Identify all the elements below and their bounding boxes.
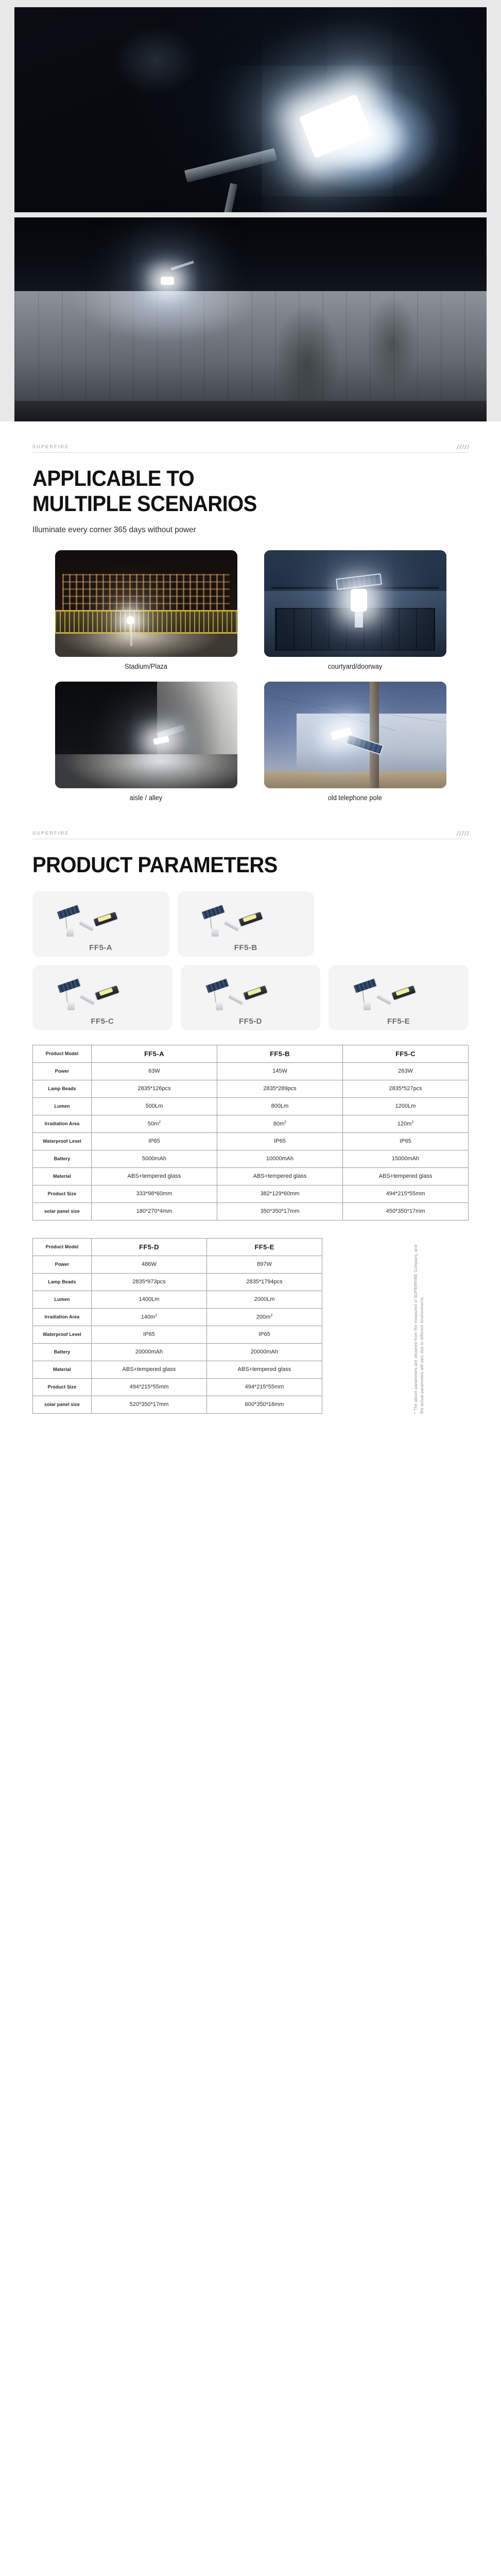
model-card-ff5-c[interactable]: FF5-C [32, 965, 172, 1030]
ground-graphic [14, 401, 487, 421]
row-label-power: Power [33, 1062, 92, 1080]
row-label-product-model: Product Model [33, 1238, 92, 1256]
night-sky-graphic [14, 217, 487, 295]
scenario-image-stadium [55, 550, 237, 657]
row-label-product-size: Product Size [33, 1185, 92, 1202]
table-row: Power 486W 897W [33, 1256, 322, 1273]
row-label-battery: Battery [33, 1343, 92, 1361]
row-label-material: Material [33, 1167, 92, 1185]
model-cards-section: FF5-A FF5-B [32, 891, 469, 1030]
cell-power-b: 145W [217, 1062, 343, 1080]
cell-product-size-c: 494*215*55mm [343, 1185, 469, 1202]
product-detail-page: SUPERFIRE APPLICABLE TO MULTIPLE SCENARI… [0, 0, 501, 1443]
table-row: Battery 5000mAh 10000mAh 15000mAh [33, 1150, 469, 1167]
table-row: Product Model FF5-A FF5-B FF5-C [33, 1045, 469, 1062]
scenario-caption: courtyard/doorway [328, 663, 383, 670]
cell-lamp-beads-c: 2835*527pcs [343, 1080, 469, 1097]
row-label-power: Power [33, 1256, 92, 1273]
spec-table-1: Product Model FF5-A FF5-B FF5-C Power 63… [32, 1045, 469, 1221]
spec-table-2: Product Model FF5-D FF5-E Power 486W 897… [32, 1238, 322, 1414]
row-label-irradiation-area: Irradiation Area [33, 1115, 92, 1132]
cell-battery-d: 20000mAh [92, 1343, 207, 1361]
cell-lumen-d: 1400Lm [92, 1291, 207, 1308]
table-row: Lumen 500Lm 800Lm 1200Lm [33, 1097, 469, 1115]
table-row: Material ABS+tempered glass ABS+tempered… [33, 1361, 322, 1378]
cell-battery-a: 5000mAh [92, 1150, 217, 1167]
scenario-caption: aisle / alley [130, 794, 162, 802]
cell-product-size-e: 494*215*55mm [207, 1378, 322, 1396]
scenario-grid: Stadium/Plaza courtyard/doorway [55, 550, 446, 809]
hero-photo-wall-light-night [14, 217, 487, 421]
cell-solar-size-d: 520*350*17mm [92, 1396, 207, 1413]
product-image-ff5-c [32, 972, 172, 1012]
scenario-image-courtyard [264, 550, 446, 657]
model-card-label: FF5-C [91, 1017, 114, 1026]
section-subtitle: Illuminate every corner 365 days without… [32, 526, 447, 535]
table-row: Product Size 333*98*60mm 382*129*60mm 49… [33, 1185, 469, 1202]
cell-irradiation-b: 80m2 [217, 1115, 343, 1132]
model-card-label: FF5-A [89, 943, 112, 952]
cell-battery-b: 10000mAh [217, 1150, 343, 1167]
table-row: Lamp Beads 2835*126pcs 2835*289pcs 2835*… [33, 1080, 469, 1097]
table-row: Irradiation Area 140m2 200m2 [33, 1308, 322, 1326]
spec-table-2-wrapper: Product Model FF5-D FF5-E Power 486W 897… [32, 1238, 469, 1414]
product-image-ff5-d [181, 972, 321, 1012]
cell-battery-e: 20000mAh [207, 1343, 322, 1361]
light-glare-graphic [161, 277, 174, 285]
model-card-ff5-b[interactable]: FF5-B [178, 891, 315, 957]
scenario-image-telephone-pole [264, 682, 446, 788]
row-label-waterproof-level: Waterproof Level [33, 1132, 92, 1150]
cell-model-b: FF5-B [217, 1045, 343, 1062]
table-row: Product Size 494*215*55mm 494*215*55mm [33, 1378, 322, 1396]
cell-waterproof-a: IP65 [92, 1132, 217, 1150]
hero-photo-flood-light-night [14, 7, 487, 212]
title-line-1: PRODUCT PARAMETERS [32, 853, 438, 878]
table-row: Waterproof Level IP65 IP65 IP65 [33, 1132, 469, 1150]
disclaimer-note: * The above parameters are obtained from… [413, 1238, 471, 1414]
table-row: Battery 20000mAh 20000mAh [33, 1343, 322, 1361]
table-row: Product Model FF5-D FF5-E [33, 1238, 322, 1256]
row-label-lumen: Lumen [33, 1291, 92, 1308]
scenario-item-stadium[interactable]: Stadium/Plaza [55, 550, 237, 677]
page-title-parameters: PRODUCT PARAMETERS [32, 853, 438, 878]
title-line-2: MULTIPLE SCENARIOS [32, 492, 438, 517]
table-row: Irradiation Area 50m2 80m2 120m2 [33, 1115, 469, 1132]
cell-lumen-a: 500Lm [92, 1097, 217, 1115]
product-image-ff5-e [329, 972, 469, 1012]
cell-irradiation-c: 120m2 [343, 1115, 469, 1132]
row-label-lumen: Lumen [33, 1097, 92, 1115]
model-card-label: FF5-D [239, 1017, 262, 1026]
table-row: Lamp Beads 2835*973pcs 2835*1794pcs [33, 1273, 322, 1291]
model-card-label: FF5-B [234, 943, 257, 952]
cell-power-c: 263W [343, 1062, 469, 1080]
cell-solar-size-b: 350*350*17mm [217, 1202, 343, 1220]
model-card-row-2: FF5-C FF5-D [32, 965, 469, 1030]
model-card-ff5-d[interactable]: FF5-D [181, 965, 321, 1030]
row-label-solar-panel-size: solar panel size [33, 1396, 92, 1413]
cell-model-a: FF5-A [92, 1045, 217, 1062]
product-image-ff5-b [178, 899, 315, 939]
cell-lamp-beads-b: 2835*289pcs [217, 1080, 343, 1097]
scenario-image-alley [55, 682, 237, 788]
cell-material-e: ABS+tempered glass [207, 1361, 322, 1378]
cell-battery-c: 15000mAh [343, 1150, 469, 1167]
page-title-scenarios: APPLICABLE TO MULTIPLE SCENARIOS [32, 466, 438, 516]
table-row: Material ABS+tempered glass ABS+tempered… [33, 1167, 469, 1185]
table-row: solar panel size 520*350*17mm 600*350*18… [33, 1396, 322, 1413]
cell-solar-size-a: 180*270*4mm [92, 1202, 217, 1220]
cell-power-d: 486W [92, 1256, 207, 1273]
slash-marks-icon [457, 831, 469, 836]
cell-irradiation-d: 140m2 [92, 1308, 207, 1326]
cell-irradiation-a: 50m2 [92, 1115, 217, 1132]
night-scene-background [14, 217, 487, 421]
table-row: solar panel size 180*270*4mm 350*350*17m… [33, 1202, 469, 1220]
brand-tag: SUPERFIRE [32, 444, 69, 449]
slash-marks-icon [457, 445, 469, 449]
section-header-parameters: SUPERFIRE [32, 809, 469, 839]
cell-waterproof-d: IP65 [92, 1326, 207, 1343]
cell-product-size-d: 494*215*55mm [92, 1378, 207, 1396]
row-label-battery: Battery [33, 1150, 92, 1167]
row-label-product-size: Product Size [33, 1378, 92, 1396]
model-card-label: FF5-E [387, 1017, 410, 1026]
row-label-irradiation-area: Irradiation Area [33, 1308, 92, 1326]
cell-solar-size-e: 600*350*18mm [207, 1396, 322, 1413]
scenario-caption: old telephone pole [328, 794, 382, 802]
hero-photo-band [0, 0, 501, 421]
cell-power-a: 63W [92, 1062, 217, 1080]
cell-material-d: ABS+tempered glass [92, 1361, 207, 1378]
model-card-ff5-e[interactable]: FF5-E [329, 965, 469, 1030]
row-label-material: Material [33, 1361, 92, 1378]
disclaimer-text: * The above parameters are obtained from… [413, 1238, 425, 1414]
section-header-scenarios: SUPERFIRE [32, 427, 469, 453]
row-label-product-model: Product Model [33, 1045, 92, 1062]
cell-material-c: ABS+tempered glass [343, 1167, 469, 1185]
night-scene-background [14, 7, 487, 212]
cell-waterproof-e: IP65 [207, 1326, 322, 1343]
row-label-solar-panel-size: solar panel size [33, 1202, 92, 1220]
scenario-item-telephone-pole[interactable]: old telephone pole [264, 682, 446, 809]
cell-lumen-b: 800Lm [217, 1097, 343, 1115]
row-label-waterproof-level: Waterproof Level [33, 1326, 92, 1343]
table-row: Power 63W 145W 263W [33, 1062, 469, 1080]
model-card-row-1: FF5-A FF5-B [32, 891, 469, 957]
scenario-item-courtyard[interactable]: courtyard/doorway [264, 550, 446, 677]
cell-material-b: ABS+tempered glass [217, 1167, 343, 1185]
cell-waterproof-b: IP65 [217, 1132, 343, 1150]
cell-lumen-c: 1200Lm [343, 1097, 469, 1115]
cell-solar-size-c: 450*350*17mm [343, 1202, 469, 1220]
cell-model-c: FF5-C [343, 1045, 469, 1062]
table-row: Waterproof Level IP65 IP65 [33, 1326, 322, 1343]
header-divider [32, 452, 469, 453]
cell-lamp-beads-a: 2835*126pcs [92, 1080, 217, 1097]
cell-product-size-b: 382*129*60mm [217, 1185, 343, 1202]
table-row: Lumen 1400Lm 2000Lm [33, 1291, 322, 1308]
cell-waterproof-c: IP65 [343, 1132, 469, 1150]
brand-tag: SUPERFIRE [32, 831, 69, 836]
cell-power-e: 897W [207, 1256, 322, 1273]
header-divider [32, 839, 469, 839]
scenario-caption: Stadium/Plaza [125, 663, 167, 670]
cell-irradiation-e: 200m2 [207, 1308, 322, 1326]
cell-product-size-a: 333*98*60mm [92, 1185, 217, 1202]
row-label-lamp-beads: Lamp Beads [33, 1080, 92, 1097]
cell-model-d: FF5-D [92, 1238, 207, 1256]
cell-lumen-e: 2000Lm [207, 1291, 322, 1308]
cell-lamp-beads-e: 2835*1794pcs [207, 1273, 322, 1291]
row-label-lamp-beads: Lamp Beads [33, 1273, 92, 1291]
spec-table-1-wrapper: Product Model FF5-A FF5-B FF5-C Power 63… [32, 1045, 469, 1221]
scenario-item-alley[interactable]: aisle / alley [55, 682, 237, 809]
cell-material-a: ABS+tempered glass [92, 1167, 217, 1185]
model-card-ff5-a[interactable]: FF5-A [32, 891, 169, 957]
title-line-1: APPLICABLE TO [32, 466, 438, 492]
page-bottom-spacer [0, 1414, 501, 1443]
cell-lamp-beads-d: 2835*973pcs [92, 1273, 207, 1291]
product-image-ff5-a [32, 899, 169, 939]
cell-model-e: FF5-E [207, 1238, 322, 1256]
